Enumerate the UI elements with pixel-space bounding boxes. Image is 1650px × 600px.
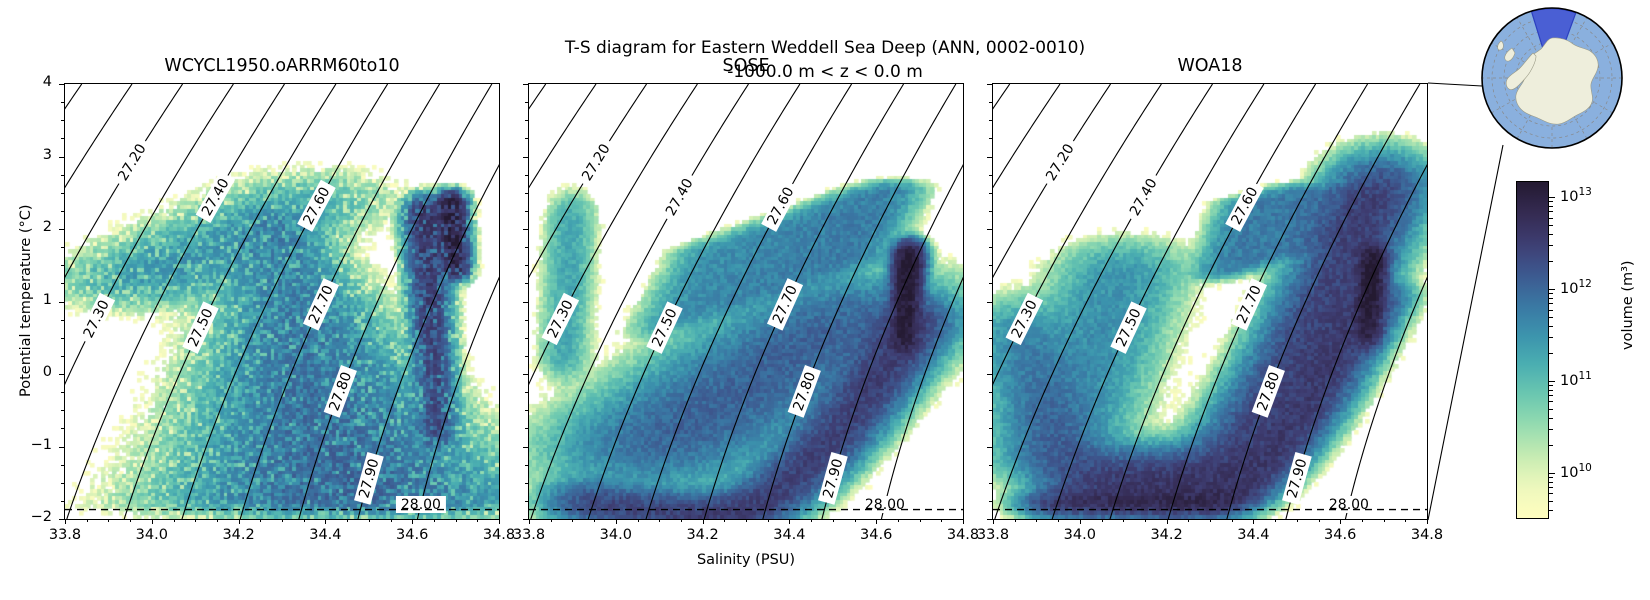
- x-axis-tick-label: 34.8: [1397, 527, 1457, 543]
- x-axis-minor-tick: [1102, 519, 1103, 522]
- x-axis-minor-tick: [282, 519, 283, 522]
- y-axis-minor-tick: [61, 356, 64, 357]
- colorbar-minor-tick: [1549, 477, 1553, 478]
- y-axis-minor-tick: [61, 465, 64, 466]
- contour-label: 27.70: [306, 283, 337, 326]
- x-axis-minor-tick: [746, 519, 747, 522]
- colorbar-minor-tick: [1549, 234, 1553, 235]
- colorbar-tick: [1549, 197, 1555, 198]
- y-axis-minor-tick: [525, 428, 528, 429]
- density-contours: 27.2027.3027.4027.5027.6027.7027.8027.90…: [65, 84, 499, 519]
- y-axis-minor-tick: [61, 247, 64, 248]
- density-contours: 27.2027.3027.4027.5027.6027.7027.8027.90…: [993, 84, 1427, 519]
- y-axis-minor-tick: [989, 265, 992, 266]
- x-axis-minor-tick: [703, 519, 704, 522]
- x-axis-minor-tick: [174, 519, 175, 522]
- y-axis-tick: [59, 519, 64, 520]
- colorbar-minor-tick: [1549, 298, 1553, 299]
- y-axis-minor-tick: [525, 211, 528, 212]
- x-axis-tick-label: 34.6: [846, 527, 906, 543]
- x-axis-minor-tick: [1036, 519, 1037, 522]
- x-axis-minor-tick: [1405, 519, 1406, 522]
- colorbar-minor-tick: [1549, 206, 1553, 207]
- leader-line-bottom: [1428, 145, 1503, 520]
- x-axis-tick-label: 34.2: [1137, 527, 1197, 543]
- colorbar-minor-tick: [1549, 482, 1553, 483]
- x-axis-minor-tick: [1384, 519, 1385, 522]
- x-axis-minor-tick: [369, 519, 370, 522]
- y-axis-tick: [987, 229, 992, 230]
- colorbar-tick: [1549, 381, 1555, 382]
- x-axis-tick-label: 34.0: [586, 527, 646, 543]
- y-axis-tick: [59, 447, 64, 448]
- x-axis-minor-tick: [87, 519, 88, 522]
- y-axis-minor-tick: [61, 428, 64, 429]
- x-axis-minor-tick: [1145, 519, 1146, 522]
- y-axis-tick: [987, 374, 992, 375]
- y-axis-tick-label: 2: [12, 219, 52, 235]
- colorbar-minor-tick: [1549, 353, 1553, 354]
- y-axis-minor-tick: [989, 483, 992, 484]
- y-axis-tick: [987, 84, 992, 85]
- y-axis-minor-tick: [61, 211, 64, 212]
- y-axis-minor-tick: [61, 483, 64, 484]
- x-axis-minor-tick: [1319, 519, 1320, 522]
- plot-panel-woa18: 27.2027.3027.4027.5027.6027.7027.8027.90…: [992, 83, 1428, 520]
- density-contour-line: [881, 171, 963, 519]
- x-axis-minor-tick: [659, 519, 660, 522]
- colorbar-minor-tick: [1549, 501, 1553, 502]
- y-axis-minor-tick: [525, 392, 528, 393]
- contour-label: 27.40: [663, 176, 697, 219]
- colorbar-minor-tick: [1549, 409, 1553, 410]
- y-axis-minor-tick: [989, 338, 992, 339]
- y-axis-minor-tick: [525, 102, 528, 103]
- y-axis-minor-tick: [525, 138, 528, 139]
- x-axis-minor-tick: [1275, 519, 1276, 522]
- contour-label: 27.20: [115, 141, 150, 184]
- y-axis-minor-tick: [61, 283, 64, 284]
- colorbar-tick-label: 1012: [1560, 278, 1592, 297]
- colorbar-minor-tick: [1549, 261, 1553, 262]
- density-contour-line: [822, 84, 963, 519]
- density-contour-line: [1345, 171, 1427, 519]
- x-axis-minor-tick: [1253, 519, 1254, 522]
- x-axis-minor-tick: [1058, 519, 1059, 522]
- y-axis-minor-tick: [525, 120, 528, 121]
- y-axis-minor-tick: [989, 283, 992, 284]
- ts-diagram-figure: T-S diagram for Eastern Weddell Sea Deep…: [0, 0, 1650, 600]
- y-axis-minor-tick: [525, 193, 528, 194]
- colorbar-minor-tick: [1549, 510, 1553, 511]
- x-axis-minor-tick: [65, 519, 66, 522]
- colorbar-minor-tick: [1549, 390, 1553, 391]
- y-axis-minor-tick: [525, 483, 528, 484]
- x-axis-minor-tick: [572, 519, 573, 522]
- plot-panel-sose: 27.2027.3027.4027.5027.6027.7027.8027.90…: [528, 83, 964, 520]
- y-axis-minor-tick: [61, 193, 64, 194]
- x-axis-minor-tick: [920, 519, 921, 522]
- colorbar-tick-label: 1011: [1560, 370, 1592, 389]
- x-axis-minor-tick: [1427, 519, 1428, 522]
- density-contour-line: [65, 84, 82, 186]
- density-contour-line: [1052, 84, 1264, 519]
- y-axis-minor-tick: [61, 338, 64, 339]
- x-axis-minor-tick: [1210, 519, 1211, 522]
- contour-label: 27.70: [770, 283, 801, 326]
- y-axis-minor-tick: [61, 320, 64, 321]
- x-axis-minor-tick: [412, 519, 413, 522]
- x-axis-tick-label: 34.4: [759, 527, 819, 543]
- contour-label: 27.90: [820, 457, 846, 500]
- y-axis-minor-tick: [525, 320, 528, 321]
- density-contours: 27.2027.3027.4027.5027.6027.7027.8027.90…: [529, 84, 963, 519]
- x-axis-tick-label: 34.0: [1050, 527, 1110, 543]
- x-axis-tick-label: 34.6: [1310, 527, 1370, 543]
- y-axis-minor-tick: [525, 356, 528, 357]
- y-axis-minor-tick: [525, 501, 528, 502]
- y-axis-tick: [523, 84, 528, 85]
- x-axis-label: Salinity (PSU): [0, 552, 1492, 568]
- y-axis-minor-tick: [61, 120, 64, 121]
- colorbar-minor-tick: [1549, 493, 1553, 494]
- y-axis-tick: [59, 374, 64, 375]
- x-axis-minor-tick: [1123, 519, 1124, 522]
- contour-label: 27.60: [1228, 185, 1261, 228]
- y-axis-tick: [59, 157, 64, 158]
- y-axis-tick-label: 0: [12, 364, 52, 380]
- x-axis-minor-tick: [789, 519, 790, 522]
- x-axis-minor-tick: [108, 519, 109, 522]
- colorbar-minor-tick: [1549, 429, 1553, 430]
- x-axis-tick-label: 34.2: [673, 527, 733, 543]
- y-axis-tick: [59, 302, 64, 303]
- density-contour-line: [240, 84, 439, 519]
- x-axis-minor-tick: [456, 519, 457, 522]
- density-contour-line: [358, 84, 499, 519]
- y-axis-tick-label: −2: [12, 509, 52, 525]
- x-axis-minor-tick: [1015, 519, 1016, 522]
- y-axis-minor-tick: [989, 410, 992, 411]
- x-axis-tick-label: 34.6: [382, 527, 442, 543]
- y-axis-minor-tick: [989, 501, 992, 502]
- y-axis-tick: [987, 302, 992, 303]
- x-axis-minor-tick: [941, 519, 942, 522]
- x-axis-minor-tick: [993, 519, 994, 522]
- colorbar-minor-tick: [1549, 293, 1553, 294]
- contour-label: 27.20: [579, 141, 614, 184]
- colorbar-tick: [1549, 473, 1555, 474]
- x-axis-minor-tick: [1232, 519, 1233, 522]
- x-axis-minor-tick: [724, 519, 725, 522]
- x-axis-minor-tick: [477, 519, 478, 522]
- colorbar-minor-tick: [1549, 337, 1553, 338]
- colorbar-label: volume (m³): [1620, 260, 1636, 350]
- x-axis-tick-label: 33.8: [499, 527, 559, 543]
- x-axis-minor-tick: [529, 519, 530, 522]
- contour-label: 27.20: [1043, 141, 1078, 184]
- colorbar-minor-tick: [1549, 218, 1553, 219]
- y-axis-minor-tick: [61, 102, 64, 103]
- x-axis-tick-label: 34.4: [295, 527, 355, 543]
- contour-label: 27.60: [300, 185, 333, 228]
- contour-label: 27.60: [764, 185, 797, 228]
- y-axis-tick: [987, 447, 992, 448]
- x-axis-minor-tick: [1362, 519, 1363, 522]
- y-axis-tick: [523, 157, 528, 158]
- y-axis-tick-label: 1: [12, 292, 52, 308]
- x-axis-minor-tick: [551, 519, 552, 522]
- contour-label: 27.40: [199, 176, 233, 219]
- x-axis-minor-tick: [195, 519, 196, 522]
- colorbar-gradient: [1516, 181, 1549, 519]
- y-axis-tick: [523, 447, 528, 448]
- y-axis-tick: [523, 374, 528, 375]
- y-axis-tick-label: −1: [12, 437, 52, 453]
- contour-label: 27.90: [1284, 457, 1310, 500]
- y-axis-tick: [59, 229, 64, 230]
- y-axis-minor-tick: [989, 211, 992, 212]
- contour-label: 27.80: [326, 370, 355, 413]
- x-axis-minor-tick: [391, 519, 392, 522]
- contour-label: 27.70: [1234, 283, 1265, 326]
- density-contour-line: [124, 84, 336, 519]
- x-axis-minor-tick: [638, 519, 639, 522]
- y-axis-minor-tick: [989, 392, 992, 393]
- colorbar-tick-label: 1010: [1560, 462, 1592, 481]
- y-axis-minor-tick: [525, 338, 528, 339]
- colorbar-minor-tick: [1549, 201, 1553, 202]
- contour-label: 27.50: [185, 306, 216, 349]
- x-axis-minor-tick: [260, 519, 261, 522]
- colorbar-minor-tick: [1549, 211, 1553, 212]
- y-axis-minor-tick: [989, 428, 992, 429]
- x-axis-minor-tick: [1340, 519, 1341, 522]
- contour-label: 27.30: [545, 298, 577, 341]
- y-axis-tick: [523, 229, 528, 230]
- y-axis-minor-tick: [525, 283, 528, 284]
- x-axis-tick-label: 34.4: [1223, 527, 1283, 543]
- x-axis-minor-tick: [152, 519, 153, 522]
- x-axis-minor-tick: [1080, 519, 1081, 522]
- y-axis-minor-tick: [61, 138, 64, 139]
- colorbar-minor-tick: [1549, 418, 1553, 419]
- x-axis-minor-tick: [594, 519, 595, 522]
- y-axis-tick: [987, 157, 992, 158]
- panel-title-sose: SOSE: [528, 56, 964, 80]
- y-axis-tick-label: 4: [12, 74, 52, 90]
- x-axis-minor-tick: [768, 519, 769, 522]
- contour-label: 27.50: [1113, 306, 1144, 349]
- density-contour-line: [1286, 84, 1427, 519]
- y-axis-tick: [59, 84, 64, 85]
- colorbar-tick-label: 1013: [1560, 186, 1592, 205]
- colorbar-minor-tick: [1549, 395, 1553, 396]
- density-contour-line: [1168, 84, 1367, 519]
- panel-title-model: WCYCL1950.oARRM60to10: [64, 56, 500, 80]
- y-axis-tick: [523, 519, 528, 520]
- colorbar-minor-tick: [1549, 385, 1553, 386]
- x-axis-minor-tick: [833, 519, 834, 522]
- x-axis-minor-tick: [855, 519, 856, 522]
- y-axis-minor-tick: [61, 410, 64, 411]
- y-axis-minor-tick: [989, 465, 992, 466]
- contour-label: 28.00: [1329, 497, 1369, 513]
- x-axis-minor-tick: [616, 519, 617, 522]
- density-contour-line: [993, 84, 1010, 186]
- colorbar-minor-tick: [1549, 487, 1553, 488]
- contour-label: 28.00: [401, 497, 441, 513]
- y-axis-minor-tick: [61, 392, 64, 393]
- y-axis-minor-tick: [989, 138, 992, 139]
- x-axis-minor-tick: [681, 519, 682, 522]
- x-axis-tick-label: 34.0: [122, 527, 182, 543]
- x-axis-minor-tick: [898, 519, 899, 522]
- colorbar-minor-tick: [1549, 445, 1553, 446]
- y-axis-minor-tick: [525, 465, 528, 466]
- y-axis-minor-tick: [989, 120, 992, 121]
- contour-label: 27.80: [790, 370, 819, 413]
- panel-title-woa18: WOA18: [992, 56, 1428, 80]
- x-axis-minor-tick: [1297, 519, 1298, 522]
- x-axis-minor-tick: [1167, 519, 1168, 522]
- contour-label: 27.50: [649, 306, 680, 349]
- colorbar-minor-tick: [1549, 326, 1553, 327]
- contour-label: 27.30: [1009, 298, 1041, 341]
- colorbar-minor-tick: [1549, 303, 1553, 304]
- colorbar-tick: [1549, 289, 1555, 290]
- colorbar-minor-tick: [1549, 245, 1553, 246]
- contour-label: 27.90: [356, 457, 382, 500]
- y-axis-minor-tick: [989, 193, 992, 194]
- colorbar-minor-tick: [1549, 225, 1553, 226]
- density-contour-line: [529, 84, 546, 186]
- y-axis-minor-tick: [61, 501, 64, 502]
- x-axis-minor-tick: [1188, 519, 1189, 522]
- x-axis-minor-tick: [239, 519, 240, 522]
- y-axis-minor-tick: [525, 175, 528, 176]
- density-contour-line: [704, 84, 903, 519]
- y-axis-minor-tick: [525, 410, 528, 411]
- contour-label: 27.80: [1254, 370, 1283, 413]
- contour-label: 27.40: [1127, 176, 1161, 219]
- y-axis-tick-label: 3: [12, 147, 52, 163]
- y-axis-minor-tick: [989, 320, 992, 321]
- y-axis-minor-tick: [989, 102, 992, 103]
- y-axis-minor-tick: [61, 175, 64, 176]
- x-axis-minor-tick: [499, 519, 500, 522]
- x-axis-minor-tick: [963, 519, 964, 522]
- x-axis-minor-tick: [325, 519, 326, 522]
- x-axis-tick-label: 33.8: [35, 527, 95, 543]
- y-axis-tick: [523, 302, 528, 303]
- x-axis-minor-tick: [347, 519, 348, 522]
- x-axis-minor-tick: [130, 519, 131, 522]
- contour-label: 28.00: [865, 497, 905, 513]
- y-axis-minor-tick: [525, 247, 528, 248]
- colorbar-minor-tick: [1549, 317, 1553, 318]
- antarctica-inset-map: [1478, 4, 1626, 152]
- x-axis-tick-label: 33.8: [963, 527, 1023, 543]
- y-axis-minor-tick: [989, 247, 992, 248]
- y-axis-minor-tick: [525, 265, 528, 266]
- density-contour-line: [417, 171, 499, 519]
- y-axis-tick: [987, 519, 992, 520]
- contour-label: 27.30: [81, 298, 113, 341]
- colorbar-minor-tick: [1549, 310, 1553, 311]
- x-axis-minor-tick: [217, 519, 218, 522]
- x-axis-minor-tick: [434, 519, 435, 522]
- y-axis-minor-tick: [61, 265, 64, 266]
- x-axis-minor-tick: [876, 519, 877, 522]
- plot-panel-model: 27.2027.3027.4027.5027.6027.7027.8027.90…: [64, 83, 500, 520]
- y-axis-minor-tick: [989, 175, 992, 176]
- x-axis-tick-label: 34.2: [209, 527, 269, 543]
- x-axis-minor-tick: [811, 519, 812, 522]
- y-axis-minor-tick: [989, 356, 992, 357]
- colorbar: 1010101110121013: [1516, 181, 1549, 519]
- colorbar-minor-tick: [1549, 401, 1553, 402]
- x-axis-minor-tick: [304, 519, 305, 522]
- density-contour-line: [588, 84, 800, 519]
